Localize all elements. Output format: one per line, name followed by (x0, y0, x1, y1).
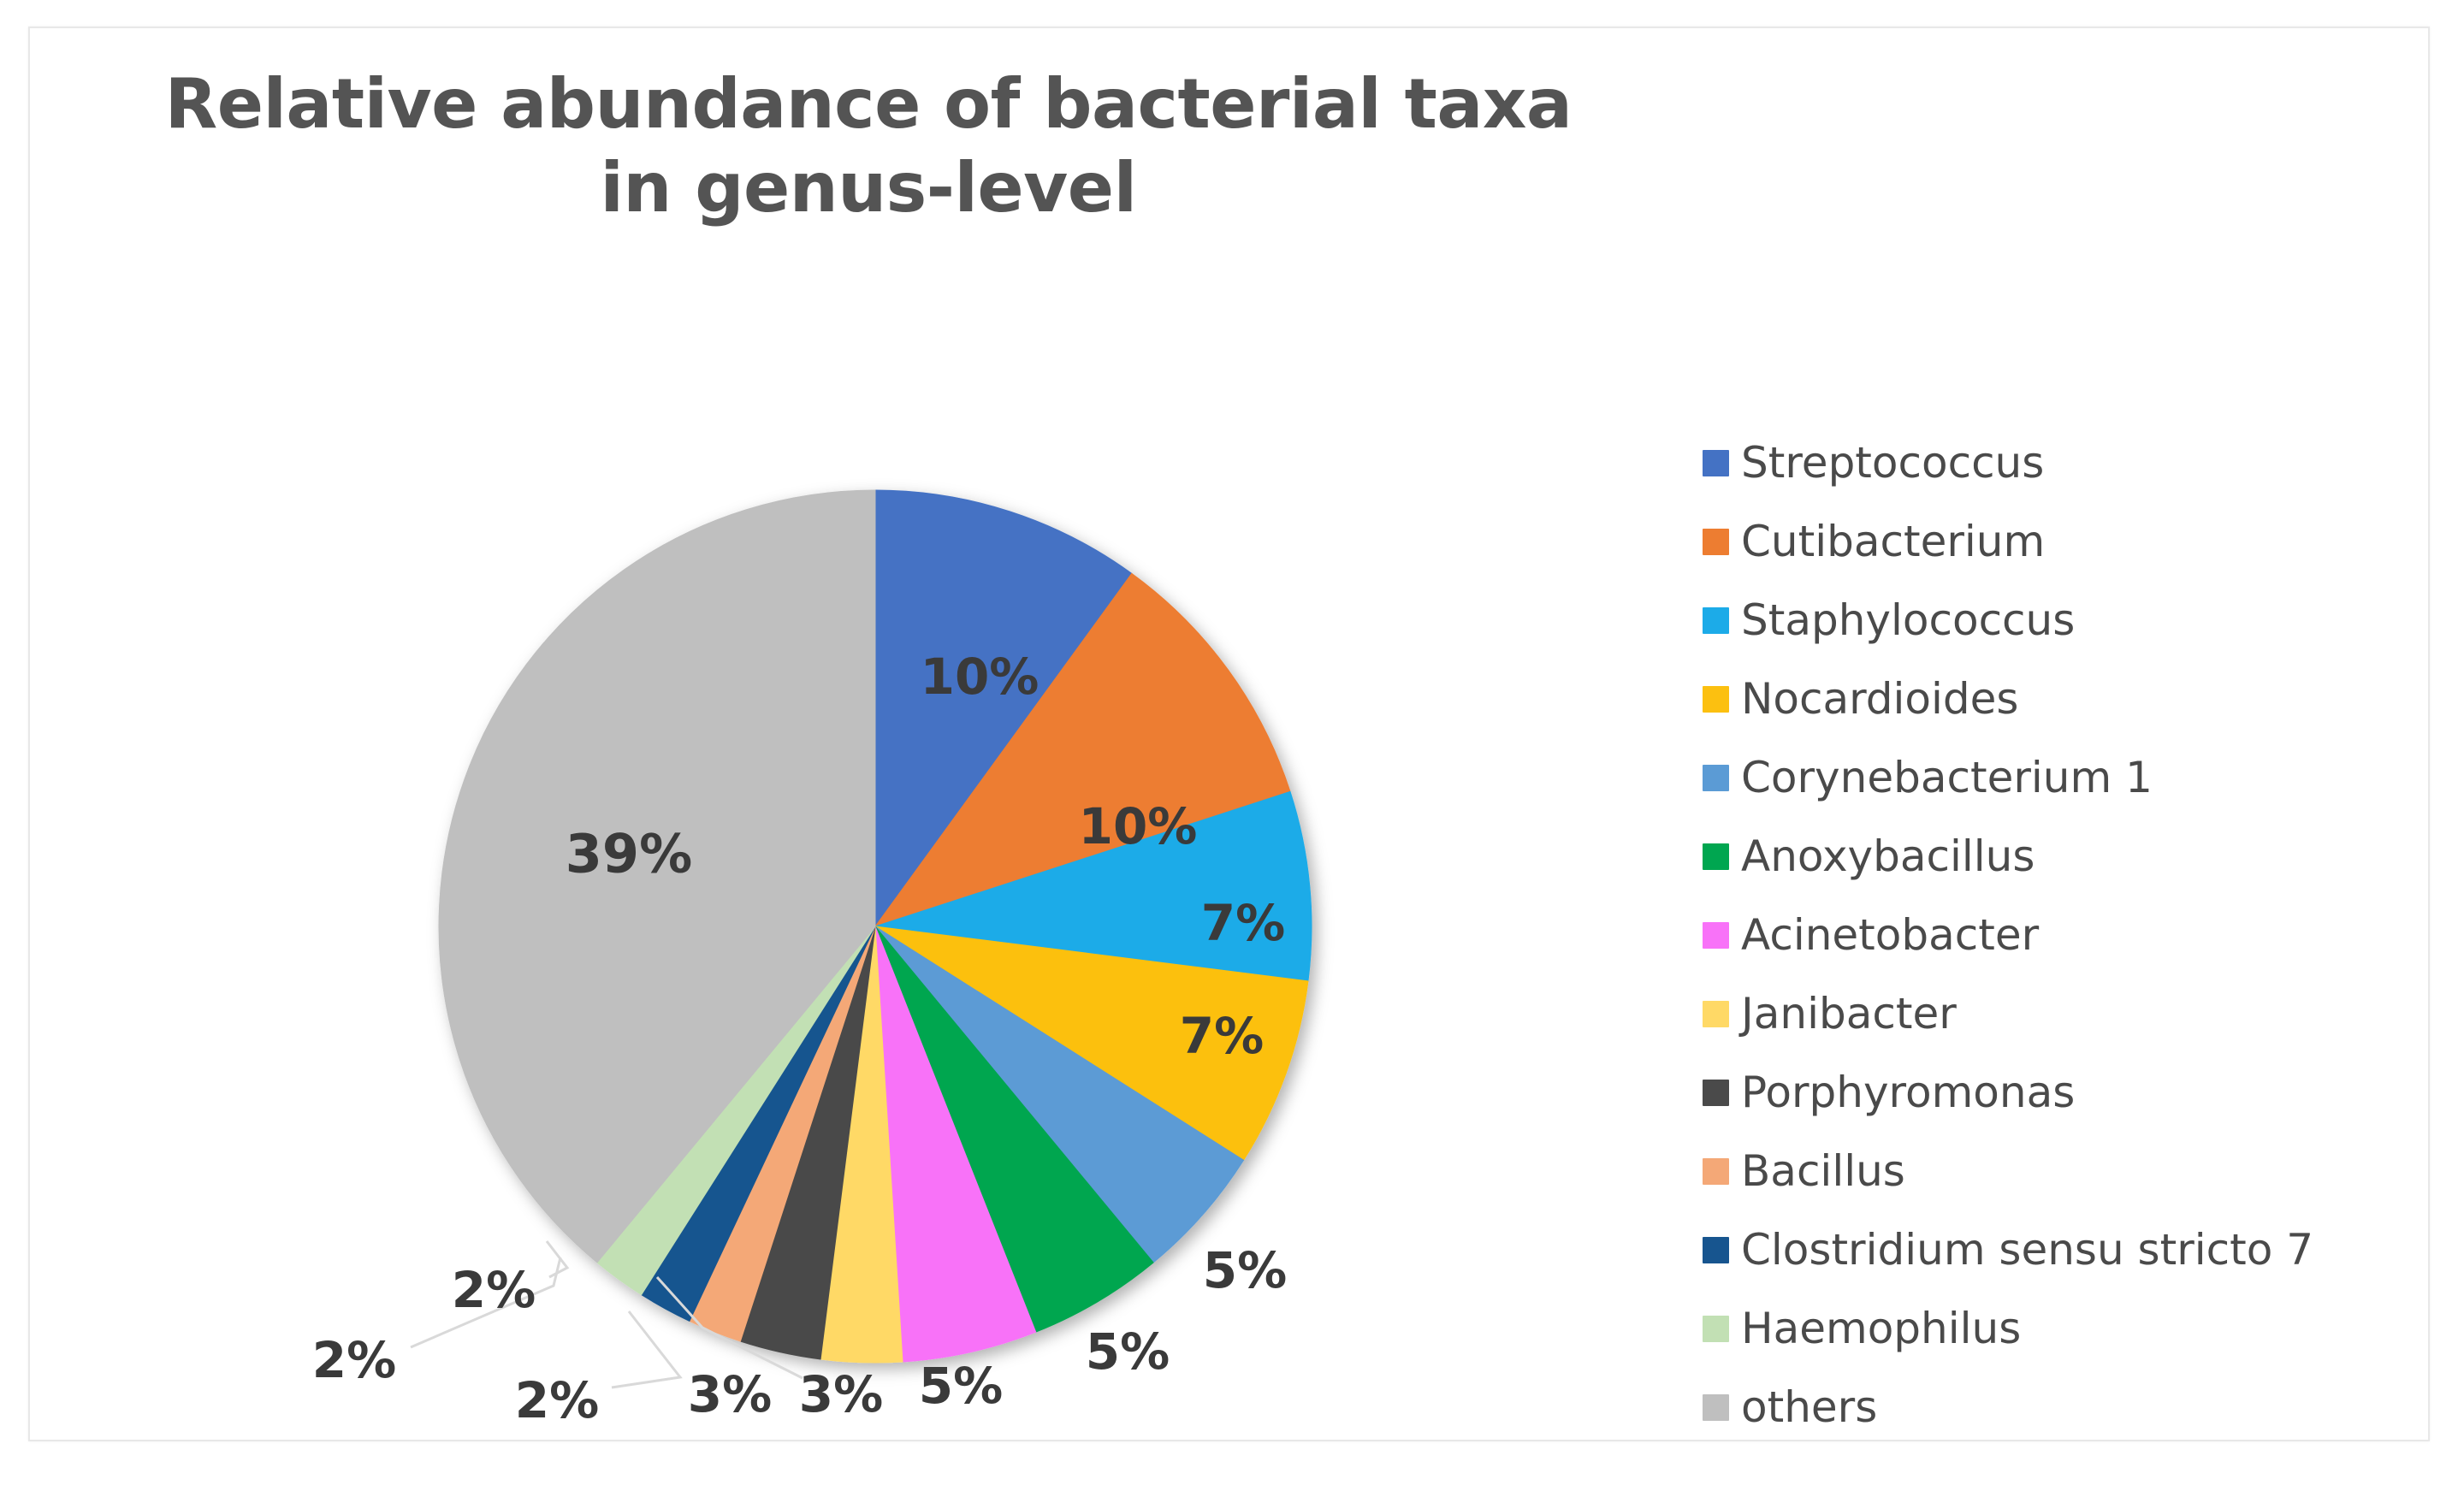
pie-slice-percent-label: 2% (312, 1331, 396, 1389)
legend-color-swatch-icon (1703, 1158, 1729, 1185)
legend-item-label: Staphylococcus (1741, 599, 2075, 642)
pie-slice-percent-label: 7% (1180, 1007, 1264, 1065)
chart-figure: Relative abundance of bacterial taxa in … (28, 27, 2430, 1441)
legend-item-label: Cutibacterium (1741, 520, 2045, 563)
legend-item-label: Clostridium sensu stricto 7 (1741, 1228, 2313, 1271)
legend-item[interactable]: Janibacter (1703, 974, 2455, 1053)
legend-item-label: Bacillus (1741, 1150, 1905, 1192)
pie-slice-percent-label: 10% (1079, 797, 1198, 855)
legend-color-swatch-icon (1703, 1316, 1729, 1342)
legend-item-label: Janibacter (1741, 992, 1957, 1035)
legend-item[interactable]: Corynebacterium 1 (1703, 738, 2455, 817)
legend-color-swatch-icon (1703, 1001, 1729, 1027)
legend-item[interactable]: Clostridium sensu stricto 7 (1703, 1210, 2455, 1289)
legend-item[interactable]: Streptococcus (1703, 423, 2455, 502)
legend-item[interactable]: Porphyromonas (1703, 1053, 2455, 1132)
legend-item[interactable]: Haemophilus (1703, 1289, 2455, 1368)
legend-color-swatch-icon (1703, 607, 1729, 634)
legend-item-label: Corynebacterium 1 (1741, 756, 2153, 799)
leader-line (547, 1241, 567, 1277)
legend-item-label: others (1741, 1386, 1877, 1429)
legend-color-swatch-icon (1703, 1394, 1729, 1421)
pie-slice-percent-label: 39% (566, 823, 692, 885)
legend-item-label: Nocardioides (1741, 677, 2018, 720)
legend-color-swatch-icon (1703, 450, 1729, 476)
leader-line (612, 1311, 680, 1387)
pie-slice-percent-label: 10% (921, 648, 1039, 706)
pie-slice-percent-label: 5% (1086, 1322, 1170, 1381)
pie-slice-percent-label: 3% (799, 1365, 883, 1423)
legend-item[interactable]: Nocardioides (1703, 660, 2455, 738)
pie-slice-percent-label: 2% (452, 1261, 536, 1319)
pie-slice-percent-label: 5% (1203, 1241, 1287, 1299)
legend-item-label: Haemophilus (1741, 1307, 2021, 1350)
legend-color-swatch-icon (1703, 922, 1729, 949)
chart-legend: StreptococcusCutibacteriumStaphylococcus… (1703, 423, 2455, 1447)
pie-slice-percent-label: 7% (1201, 894, 1285, 952)
legend-item[interactable]: Acinetobacter (1703, 896, 2455, 974)
legend-color-swatch-icon (1703, 529, 1729, 555)
legend-item[interactable]: Cutibacterium (1703, 502, 2455, 581)
legend-color-swatch-icon (1703, 1080, 1729, 1106)
legend-color-swatch-icon (1703, 843, 1729, 870)
legend-color-swatch-icon (1703, 765, 1729, 791)
legend-color-swatch-icon (1703, 686, 1729, 713)
pie-chart-svg (30, 28, 1741, 1443)
legend-color-swatch-icon (1703, 1237, 1729, 1263)
legend-item[interactable]: Staphylococcus (1703, 581, 2455, 660)
pie-chart-area: 10%10%7%7%5%5%5%3%3%2%2%2%39% (30, 28, 1741, 1443)
legend-item-label: Anoxybacillus (1741, 835, 2035, 878)
legend-item[interactable]: Anoxybacillus (1703, 817, 2455, 896)
pie-slice-percent-label: 2% (515, 1371, 599, 1429)
legend-item[interactable]: others (1703, 1368, 2455, 1447)
pie-slice-percent-label: 3% (688, 1365, 772, 1423)
pie-slices-group (439, 490, 1312, 1363)
pie-slice-percent-label: 5% (919, 1357, 1003, 1415)
legend-item-label: Streptococcus (1741, 441, 2044, 484)
legend-item-label: Acinetobacter (1741, 914, 2039, 956)
legend-item-label: Porphyromonas (1741, 1071, 2075, 1114)
legend-item[interactable]: Bacillus (1703, 1132, 2455, 1210)
